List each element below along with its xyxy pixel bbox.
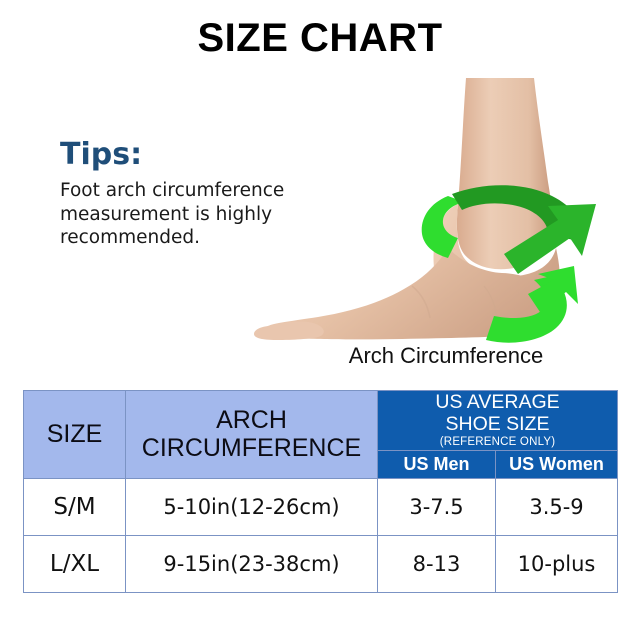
arch-circumference-caption: Arch Circumference: [252, 344, 640, 368]
cell-us-men-1: 8-13: [378, 535, 496, 592]
table-row: S/M 5-10in(12-26cm) 3-7.5 3.5-9: [24, 478, 618, 535]
header-size: SIZE: [24, 391, 126, 479]
big-toe-shape: [254, 322, 324, 340]
foot-illustration: [252, 78, 640, 343]
size-chart-table: SIZE ARCH CIRCUMFERENCE US AVERAGE SHOE …: [23, 390, 618, 593]
cell-arch-0: 5-10in(12-26cm): [126, 478, 378, 535]
cell-size-1: L/XL: [24, 535, 126, 592]
cell-us-men-0: 3-7.5: [378, 478, 496, 535]
header-shoe-size-main: US AVERAGE SHOE SIZE: [435, 391, 559, 435]
header-reference-only-note: (REFERENCE ONLY): [378, 436, 617, 449]
cell-arch-1: 9-15in(23-38cm): [126, 535, 378, 592]
table-header-row-main: SIZE ARCH CIRCUMFERENCE US AVERAGE SHOE …: [24, 391, 618, 451]
header-arch-circumference: ARCH CIRCUMFERENCE: [126, 391, 378, 479]
header-us-average-shoe-size: US AVERAGE SHOE SIZE (REFERENCE ONLY): [378, 391, 618, 451]
cell-us-women-0: 3.5-9: [496, 478, 618, 535]
cell-us-women-1: 10-plus: [496, 535, 618, 592]
page-title: SIZE CHART: [0, 16, 640, 60]
header-us-men: US Men: [378, 450, 496, 478]
foot-photo-graphic: [252, 78, 640, 343]
cell-size-0: S/M: [24, 478, 126, 535]
table-row: L/XL 9-15in(23-38cm) 8-13 10-plus: [24, 535, 618, 592]
header-us-women: US Women: [496, 450, 618, 478]
